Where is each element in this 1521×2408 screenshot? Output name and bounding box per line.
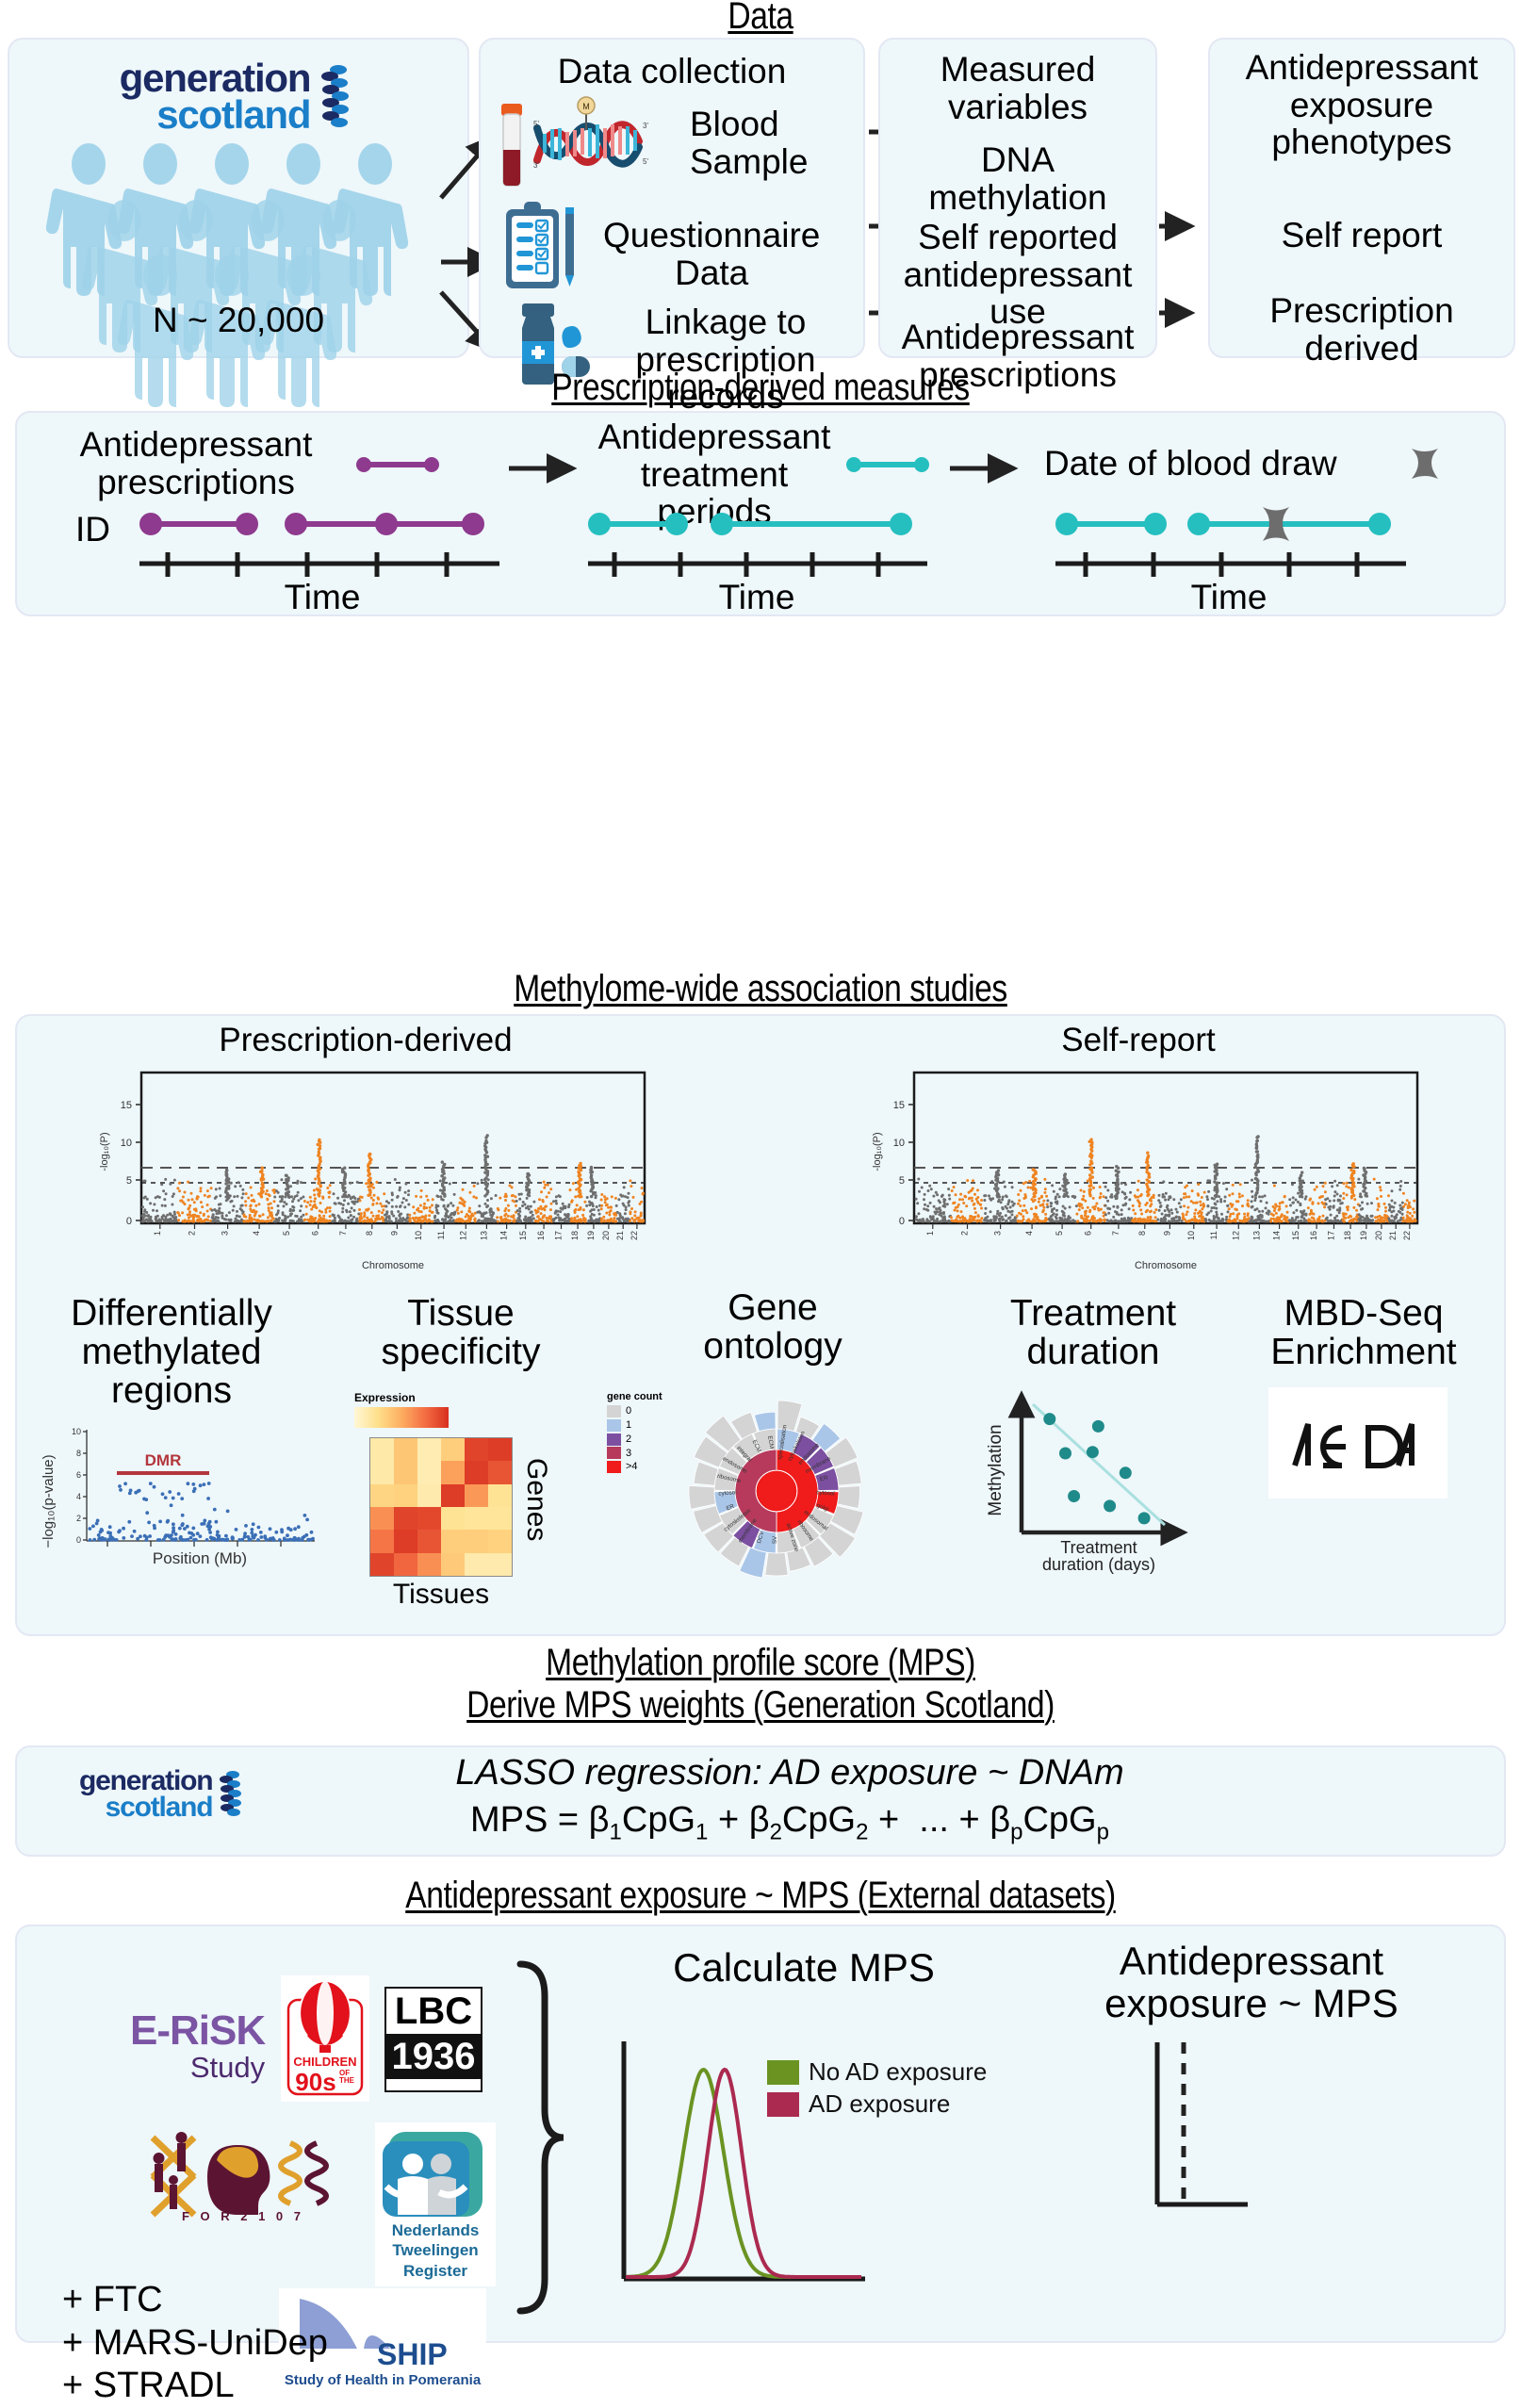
svg-text:16: 16 bbox=[1309, 1231, 1318, 1240]
heatmap-cell bbox=[394, 1553, 417, 1576]
svg-text:Methylation: Methylation bbox=[986, 1424, 1006, 1515]
svg-text:14: 14 bbox=[1272, 1231, 1282, 1240]
nesda-logo-mark bbox=[1287, 1417, 1429, 1469]
svg-text:5: 5 bbox=[126, 1175, 132, 1187]
logo-children-of-the-90s: CHILDREN 90s OF THE bbox=[281, 1975, 369, 2102]
gene-count-legend-label: 1 bbox=[626, 1418, 631, 1433]
heatmap-cell bbox=[370, 1507, 394, 1530]
svg-text:12: 12 bbox=[458, 1231, 467, 1240]
gene-count-legend: gene count 0123>4 bbox=[607, 1391, 662, 1474]
heatmap-cell bbox=[417, 1484, 441, 1507]
mps-title-line2: Derive MPS weights (Generation Scotland) bbox=[122, 1684, 1399, 1727]
svg-text:5': 5' bbox=[643, 157, 648, 166]
svg-text:15: 15 bbox=[121, 1100, 132, 1111]
svg-text:2: 2 bbox=[76, 1514, 81, 1523]
svg-text:13: 13 bbox=[1251, 1231, 1261, 1240]
measured-variable-0: DNA methylation bbox=[880, 141, 1155, 216]
generation-scotland-logo-line1: generation bbox=[120, 60, 311, 97]
svg-text:cytosol: cytosol bbox=[718, 1489, 737, 1497]
logo-lbc-1936: LBC 1936 bbox=[384, 1987, 482, 2092]
gene-count-legend-item: >4 bbox=[607, 1460, 662, 1474]
panel-cohort: generation scotland bbox=[8, 38, 469, 358]
generation-scotland-logo: generation scotland bbox=[9, 60, 467, 133]
clipboard-pen-icon bbox=[503, 200, 584, 292]
heatmap-cell bbox=[465, 1530, 488, 1552]
gene-count-legend-label: 3 bbox=[626, 1447, 631, 1461]
svg-text:10: 10 bbox=[72, 1427, 81, 1436]
svg-text:15: 15 bbox=[1291, 1231, 1300, 1240]
heatmap-cell bbox=[465, 1484, 488, 1507]
svg-text:M: M bbox=[582, 102, 590, 111]
svg-text:22: 22 bbox=[1402, 1231, 1412, 1240]
svg-text:7: 7 bbox=[1111, 1231, 1120, 1236]
gene-count-legend-item: 3 bbox=[607, 1447, 662, 1461]
forest-title: Antidepressant exposure ~ MPS bbox=[1025, 1940, 1478, 2025]
blood-draw-x-icon bbox=[1406, 445, 1444, 483]
svg-text:2: 2 bbox=[960, 1231, 970, 1236]
section-title-data: Data bbox=[0, 0, 1521, 37]
svg-text:Chromosome: Chromosome bbox=[362, 1260, 424, 1271]
manhattan-plot-prescription-derived: 1510 50 -log₁₀(P) 1234567891011121314151… bbox=[83, 1067, 667, 1274]
svg-text:9: 9 bbox=[1162, 1231, 1171, 1236]
prescription-legend-segment bbox=[356, 452, 441, 477]
svg-text:10: 10 bbox=[893, 1138, 905, 1149]
svg-text:3': 3' bbox=[643, 122, 648, 130]
svg-text:19: 19 bbox=[586, 1231, 596, 1240]
gene-count-legend-swatch bbox=[607, 1419, 621, 1432]
dna-helix-icon bbox=[314, 64, 357, 130]
svg-text:SV: SV bbox=[772, 1535, 778, 1544]
svg-text:18: 18 bbox=[570, 1231, 580, 1240]
svg-text:15: 15 bbox=[518, 1231, 528, 1240]
panel-mps-weights: generation scotland LASSO regression: AD… bbox=[15, 1745, 1506, 1857]
data-collection-title: Data collection bbox=[481, 53, 863, 90]
mbd-seq-title: MBD-Seq Enrichment bbox=[1227, 1295, 1500, 1372]
heatmap-cell bbox=[441, 1461, 465, 1483]
heatmap-cell bbox=[370, 1438, 394, 1461]
logo-e-risk: E-RiSK Study bbox=[130, 2007, 265, 2085]
svg-text:18: 18 bbox=[1343, 1231, 1352, 1240]
logo-ntr-line1: Nederlands bbox=[379, 2220, 492, 2240]
svg-text:9: 9 bbox=[389, 1231, 399, 1236]
dmr-title: Differentially methylated regions bbox=[23, 1295, 320, 1411]
nesda-logo bbox=[1268, 1387, 1447, 1499]
lasso-formula-line1: LASSO regression: AD exposure ~ DNAm bbox=[319, 1753, 1261, 1794]
data-collection-item-0-label: Blood Sample bbox=[690, 106, 808, 180]
manhattan-left-title: Prescription-derived bbox=[74, 1022, 658, 1059]
legend-label-no-ad: No AD exposure bbox=[809, 2057, 987, 2086]
legend-swatch-ad bbox=[767, 2092, 799, 2117]
heatmap-cell bbox=[394, 1484, 417, 1507]
heatmap-cell bbox=[465, 1461, 488, 1483]
heatmap-cell bbox=[394, 1530, 417, 1552]
svg-text:19: 19 bbox=[1359, 1231, 1368, 1240]
mps-density-legend: No AD exposure AD exposure bbox=[767, 2057, 987, 2118]
logo-for-2107: F O R 2 1 0 7 bbox=[149, 2122, 337, 2224]
gene-count-legend-label: >4 bbox=[626, 1460, 638, 1474]
gene-count-legend-swatch bbox=[607, 1405, 621, 1417]
gene-count-legend-swatch bbox=[607, 1447, 621, 1459]
svg-text:4: 4 bbox=[252, 1231, 261, 1236]
panel-mwas: Prescription-derived 1510 50 -log₁₀(P) 1… bbox=[15, 1014, 1506, 1636]
blood-draw-title: Date of blood draw bbox=[1044, 445, 1337, 483]
hot-air-balloon-icon: CHILDREN 90s OF THE bbox=[285, 1979, 366, 2098]
section-title-prescription: Prescription-derived measures bbox=[0, 368, 1521, 408]
logo-e-risk-line2: Study bbox=[130, 2051, 265, 2085]
heatmap-cell bbox=[465, 1438, 488, 1461]
svg-text:8: 8 bbox=[1137, 1231, 1147, 1236]
gene-count-legend-item: 1 bbox=[607, 1418, 662, 1433]
heatmap-cell bbox=[417, 1438, 441, 1461]
section-title-mwas-text: Methylome-wide association studies bbox=[0, 969, 1521, 1009]
treatment-legend-segment bbox=[846, 452, 931, 477]
svg-text:8: 8 bbox=[365, 1231, 374, 1236]
gene-count-legend-title: gene count bbox=[607, 1391, 662, 1402]
svg-text:6: 6 bbox=[76, 1470, 81, 1480]
calculate-mps-title: Calculate MPS bbox=[582, 1945, 1025, 1990]
svg-text:11: 11 bbox=[1209, 1231, 1218, 1239]
gene-count-legend-item: 0 bbox=[607, 1404, 662, 1418]
heatmap-cell bbox=[488, 1438, 512, 1461]
svg-text:5: 5 bbox=[899, 1175, 905, 1187]
tissue-specificity-title: Tissue specificity bbox=[324, 1295, 597, 1372]
heatmap-cell bbox=[370, 1484, 394, 1507]
dna-helix-icon bbox=[215, 1770, 245, 1819]
heatmap-cell bbox=[394, 1461, 417, 1483]
svg-text:22: 22 bbox=[630, 1231, 639, 1240]
svg-text:duration (days): duration (days) bbox=[1042, 1555, 1155, 1574]
svg-text:90s: 90s bbox=[295, 2068, 335, 2096]
section-title-external: Antidepressant exposure ~ MPS (External … bbox=[0, 1876, 1521, 1916]
panel-phenotypes: Antidepressant exposure phenotypes Self … bbox=[1208, 38, 1515, 358]
svg-text:1: 1 bbox=[925, 1231, 935, 1236]
heatmap-cell bbox=[488, 1461, 512, 1483]
subpanel-calculate-mps: Calculate MPS No AD exposure AD exposure bbox=[582, 1945, 1025, 2318]
svg-text:3: 3 bbox=[221, 1231, 230, 1236]
heatmap-cell bbox=[417, 1553, 441, 1576]
panel-measured-variables: Measured variables DNA methylation Self … bbox=[878, 38, 1157, 358]
svg-text:DMR: DMR bbox=[145, 1451, 182, 1469]
heatmap-cell bbox=[417, 1461, 441, 1483]
logo-e-risk-line1: E-RiSK bbox=[130, 2007, 265, 2055]
twin-register-mark-icon bbox=[379, 2128, 492, 2220]
svg-text:17: 17 bbox=[554, 1231, 564, 1240]
heatmap-ylabel-genes: Genes bbox=[520, 1458, 552, 1541]
expression-legend: Expression bbox=[354, 1391, 597, 1428]
legend-label-ad: AD exposure bbox=[809, 2089, 950, 2118]
svg-text:0: 0 bbox=[126, 1216, 132, 1227]
svg-text:2: 2 bbox=[188, 1231, 197, 1236]
data-collection-item-1-label: Questionnaire Data bbox=[603, 217, 820, 291]
curly-brace-icon bbox=[513, 1958, 569, 2317]
subpanel-dmr: Differentially methylated regions −log₁₀… bbox=[23, 1295, 320, 1571]
gene-count-legend-item: 2 bbox=[607, 1433, 662, 1447]
treatment-duration-scatter: Methylation Treatment duration (days) bbox=[978, 1384, 1233, 1572]
measured-variable-1: Self reported antidepressant use bbox=[880, 219, 1155, 331]
arrow-periods-to-blood-draw bbox=[948, 454, 1039, 483]
logo-ntr-line3: Register bbox=[379, 2261, 492, 2281]
svg-text:CHILDREN: CHILDREN bbox=[293, 2055, 356, 2069]
expression-legend-title: Expression bbox=[354, 1391, 597, 1404]
heatmap-cell bbox=[370, 1530, 394, 1552]
svg-text:20: 20 bbox=[601, 1231, 611, 1240]
heatmap-cell bbox=[488, 1553, 512, 1576]
svg-text:0: 0 bbox=[76, 1535, 81, 1545]
svg-text:13: 13 bbox=[479, 1231, 488, 1240]
mps-title-line1: Methylation profile score (MPS) bbox=[122, 1642, 1399, 1684]
svg-text:21: 21 bbox=[1388, 1231, 1398, 1240]
prescriptions-title: Antidepressant prescriptions bbox=[36, 426, 356, 500]
heatmap-cell bbox=[417, 1530, 441, 1552]
logo-ship-line1: SHIP bbox=[377, 2337, 486, 2372]
svg-text:-log₁₀(P): -log₁₀(P) bbox=[99, 1132, 110, 1171]
svg-text:3: 3 bbox=[993, 1231, 1003, 1236]
svg-text:16: 16 bbox=[536, 1231, 546, 1240]
panel-data-collection: Data collection bbox=[479, 38, 865, 358]
heatmap-cell bbox=[417, 1507, 441, 1530]
svg-text:8: 8 bbox=[76, 1449, 81, 1458]
id-label-col1: ID bbox=[75, 511, 110, 549]
svg-text:-log₁₀(P): -log₁₀(P) bbox=[872, 1132, 883, 1171]
svg-text:21: 21 bbox=[615, 1231, 625, 1240]
logo-ntr-line2: Tweelingen bbox=[379, 2240, 492, 2260]
heatmap-cell bbox=[488, 1507, 512, 1530]
for2107-mark-icon: F O R 2 1 0 7 bbox=[149, 2122, 337, 2224]
svg-text:F O R 2 1 0 7: F O R 2 1 0 7 bbox=[182, 2209, 304, 2223]
svg-text:3': 3' bbox=[533, 161, 539, 170]
heatmap-cell bbox=[394, 1438, 417, 1461]
tissue-specificity-heatmap bbox=[369, 1437, 513, 1577]
expression-colorbar bbox=[354, 1407, 449, 1428]
svg-text:11: 11 bbox=[436, 1231, 446, 1239]
sample-size-label: N ~ 20,000 bbox=[9, 302, 467, 339]
extra-cohort-2: + STRADL bbox=[62, 2365, 328, 2408]
svg-text:4: 4 bbox=[1024, 1231, 1034, 1236]
forest-plot bbox=[1025, 2035, 1478, 2318]
arrows-measured-to-phenotypes bbox=[1157, 38, 1212, 358]
svg-text:5: 5 bbox=[1055, 1231, 1064, 1236]
svg-text:12: 12 bbox=[1231, 1231, 1240, 1240]
svg-text:cytosol: cytosol bbox=[816, 1489, 835, 1497]
svg-text:10: 10 bbox=[1186, 1231, 1196, 1240]
gene-ontology-title: Gene ontology bbox=[594, 1289, 952, 1367]
gene-count-legend-swatch bbox=[607, 1461, 621, 1473]
heatmap-cell bbox=[394, 1507, 417, 1530]
heatmap-cell bbox=[441, 1484, 465, 1507]
subpanel-gene-ontology: Gene ontology gene count 0123>4 speciali… bbox=[594, 1289, 952, 1602]
svg-text:7: 7 bbox=[338, 1231, 348, 1236]
subpanel-forest-plot: Antidepressant exposure ~ MPS bbox=[1025, 1940, 1478, 2318]
treatment-duration-title: Treatment duration bbox=[952, 1295, 1235, 1372]
phenotype-0: Self report bbox=[1210, 217, 1513, 254]
extra-cohort-0: + FTC bbox=[62, 2279, 328, 2322]
measured-variables-title: Measured variables bbox=[880, 51, 1155, 125]
heatmap-cell bbox=[465, 1507, 488, 1530]
lasso-formula-line2: MPS = β1CpG1 + β2CpG2 + ... + βpCpGp bbox=[319, 1800, 1261, 1846]
gene-count-legend-label: 0 bbox=[626, 1404, 631, 1418]
svg-text:Chromosome: Chromosome bbox=[1135, 1260, 1197, 1271]
svg-text:15: 15 bbox=[893, 1100, 905, 1111]
heatmap-cell bbox=[370, 1461, 394, 1483]
svg-text:20: 20 bbox=[1374, 1231, 1383, 1240]
subpanel-mbd-seq: MBD-Seq Enrichment bbox=[1227, 1295, 1500, 1499]
blood-tube-dna-icon: M 5' 3' 3' 5' bbox=[492, 98, 685, 197]
manhattan-right-title: Self-report bbox=[846, 1022, 1431, 1059]
gene-ontology-sunburst: specialisationcytoskeletonendosomemembra… bbox=[616, 1376, 937, 1602]
svg-text:−log₁₀(p-value): −log₁₀(p-value) bbox=[41, 1454, 57, 1548]
svg-text:10: 10 bbox=[121, 1138, 132, 1149]
svg-text:THE: THE bbox=[339, 2076, 355, 2085]
svg-text:1: 1 bbox=[153, 1231, 162, 1236]
figure-root: Data generation scotland bbox=[0, 0, 1521, 2349]
subpanel-tissue-specificity: Tissue specificity Expression Genes Tiss… bbox=[324, 1295, 597, 1611]
mps-density-plot: No AD exposure AD exposure bbox=[582, 2026, 1025, 2318]
gene-count-legend-swatch bbox=[607, 1433, 621, 1446]
svg-text:6: 6 bbox=[1084, 1231, 1093, 1236]
panel-prescription-derived: Antidepressant prescriptions ID Time bbox=[15, 411, 1506, 616]
time-axis-label-col2: Time bbox=[582, 579, 931, 616]
svg-text:0: 0 bbox=[899, 1216, 905, 1227]
section-title-mps: Methylation profile score (MPS) Derive M… bbox=[0, 1642, 1521, 1727]
time-axis-label-col3: Time bbox=[1050, 579, 1408, 616]
time-axis-label-col1: Time bbox=[134, 579, 511, 616]
panel-external-datasets: E-RiSK Study CHILDREN 90s OF THE LBC bbox=[15, 1925, 1506, 2343]
heatmap-cell bbox=[441, 1438, 465, 1461]
heatmap-cell bbox=[441, 1530, 465, 1552]
heatmap-cell bbox=[488, 1484, 512, 1507]
phenotype-1: Prescription derived bbox=[1210, 292, 1513, 367]
logo-lbc-1936-line2: 1936 bbox=[386, 2034, 481, 2079]
svg-text:5': 5' bbox=[533, 120, 539, 128]
extra-cohorts-list: + FTC + MARS-UniDep + STRADL bbox=[62, 2279, 328, 2408]
extra-cohort-1: + MARS-UniDep bbox=[62, 2322, 328, 2366]
svg-text:6: 6 bbox=[311, 1231, 320, 1236]
generation-scotland-logo-line2: scotland bbox=[120, 97, 311, 134]
heatmap-cell bbox=[488, 1530, 512, 1552]
heatmap-cell bbox=[441, 1507, 465, 1530]
heatmap-cell bbox=[465, 1553, 488, 1576]
manhattan-plot-self-report: 1510 50 -log₁₀(P) 1234567891011121314151… bbox=[856, 1067, 1440, 1274]
svg-text:Position (Mb): Position (Mb) bbox=[153, 1549, 247, 1567]
svg-text:10: 10 bbox=[414, 1231, 423, 1240]
generation-scotland-logo-mps: generation scotland bbox=[79, 1768, 245, 1820]
dmr-plot: −log₁₀(p-value) 1086 420 bbox=[40, 1420, 322, 1571]
svg-text:5: 5 bbox=[282, 1231, 291, 1236]
heatmap-xlabel-tissues: Tissues bbox=[369, 1579, 513, 1611]
svg-text:14: 14 bbox=[499, 1231, 509, 1240]
phenotypes-title: Antidepressant exposure phenotypes bbox=[1210, 49, 1513, 161]
subpanel-treatment-duration: Treatment duration Methylation Treatment… bbox=[952, 1295, 1235, 1572]
gene-count-legend-label: 2 bbox=[626, 1433, 631, 1447]
heatmap-cell bbox=[441, 1553, 465, 1576]
logo-netherlands-twin-register: Nederlands Tweelingen Register bbox=[375, 2122, 496, 2286]
svg-text:4: 4 bbox=[76, 1492, 81, 1501]
svg-text:Treatment: Treatment bbox=[1060, 1538, 1137, 1557]
logo-lbc-1936-line1: LBC bbox=[386, 1989, 481, 2034]
svg-text:17: 17 bbox=[1327, 1231, 1336, 1240]
heatmap-cell bbox=[370, 1553, 394, 1576]
legend-swatch-no-ad bbox=[767, 2060, 799, 2085]
